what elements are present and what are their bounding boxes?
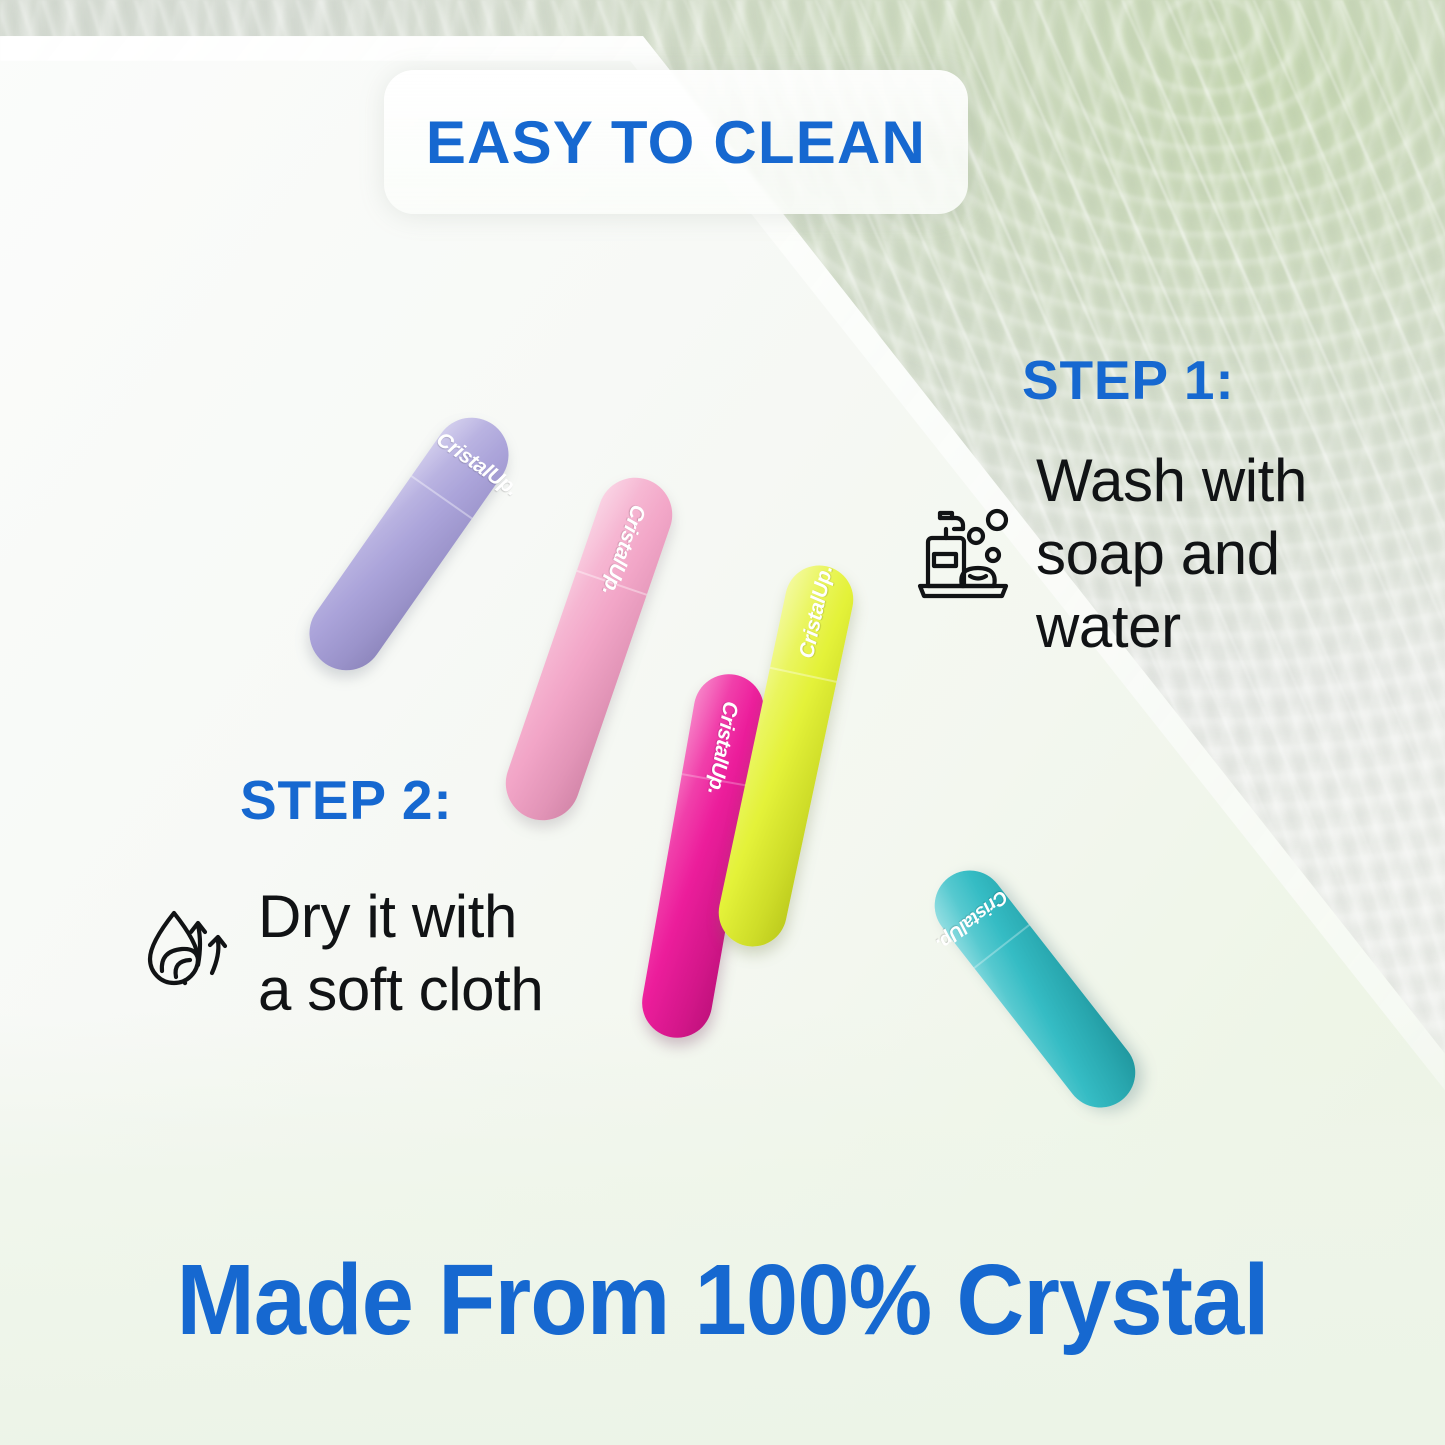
badge-label: EASY TO CLEAN [426,108,926,177]
step-2-body: Dry it with a soft cloth [140,880,543,1026]
step-1-body: Wash with soap and water [910,444,1307,664]
soap-dispenser-icon [910,502,1014,605]
step-2-text: Dry it with a soft cloth [258,880,543,1026]
bottom-gradient-wash [0,1012,1445,1445]
water-drop-evaporation-icon [140,903,236,1004]
easy-to-clean-badge: EASY TO CLEAN [384,70,968,214]
step-2-block: STEP 2: Dry it with a soft cloth [240,768,543,1026]
infographic-canvas: CristalUp. CristalUp. CristalUp. Cristal… [0,0,1445,1445]
step-1-title: STEP 1: [1022,348,1307,412]
step-1-text: Wash with soap and water [1036,444,1307,664]
footer-headline: Made From 100% Crystal [43,1243,1401,1358]
step-1-block: STEP 1: [1022,348,1307,664]
step-2-title: STEP 2: [240,768,543,832]
